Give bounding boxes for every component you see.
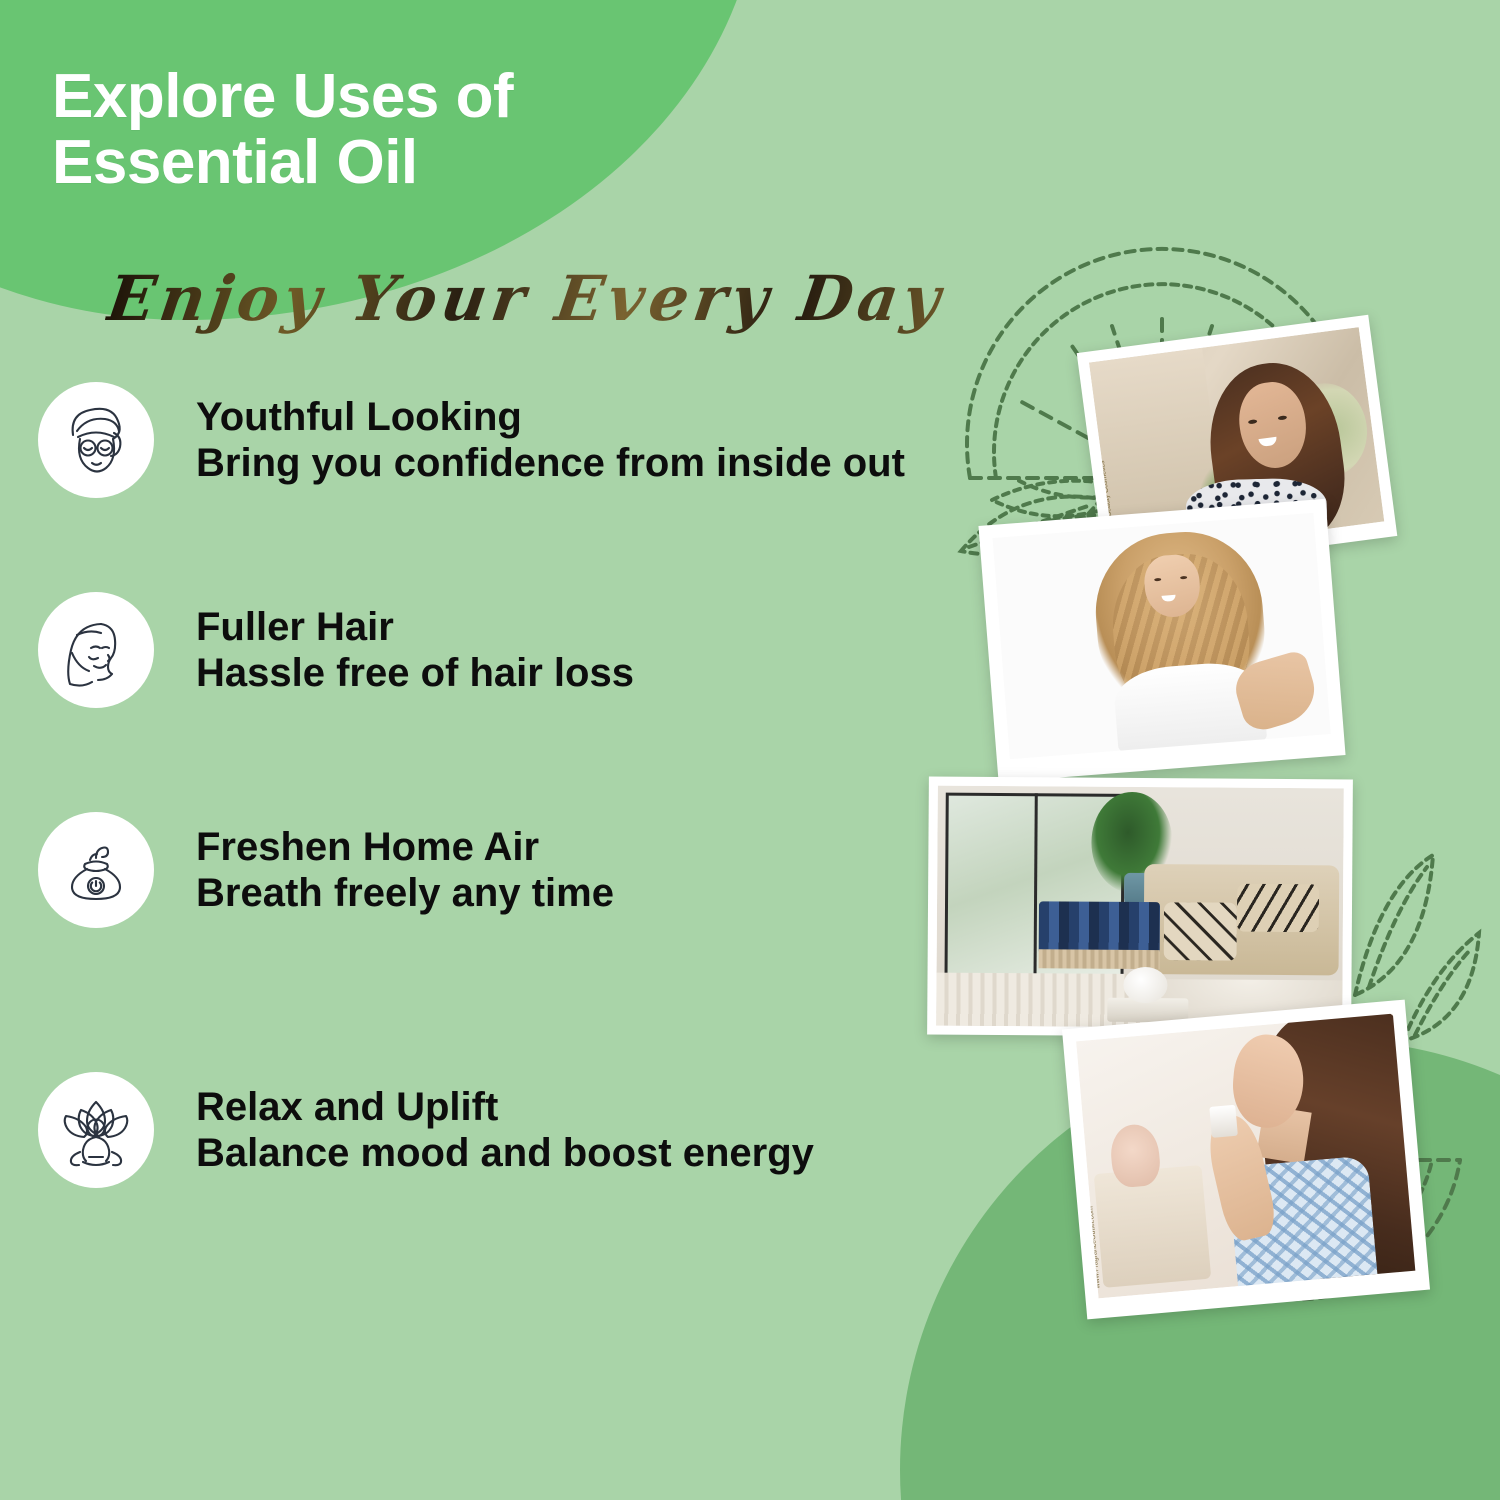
feature-item-fuller-hair: Fuller Hair Hassle free of hair loss bbox=[38, 592, 634, 708]
feature-text-block: Fuller Hair Hassle free of hair loss bbox=[196, 604, 634, 697]
photo-image bbox=[992, 513, 1330, 760]
feature-title: Freshen Home Air bbox=[196, 825, 539, 869]
face-spa-mask-icon bbox=[38, 382, 154, 498]
feature-text-block: Relax and Uplift Balance mood and boost … bbox=[196, 1084, 814, 1177]
feature-item-relax-and-uplift: Relax and Uplift Balance mood and boost … bbox=[38, 1072, 814, 1188]
feature-subtitle: Breath freely any time bbox=[196, 870, 614, 916]
feature-subtitle: Balance mood and boost energy bbox=[196, 1130, 814, 1176]
feature-subtitle: Bring you confidence from inside out bbox=[196, 440, 905, 486]
feature-subtitle: Hassle free of hair loss bbox=[196, 650, 634, 696]
lotus-meditation-icon bbox=[38, 1072, 154, 1188]
tagline: Enjoy Your Every Day bbox=[103, 262, 950, 335]
page-title: Explore Uses of Essential Oil bbox=[52, 64, 513, 198]
feature-item-freshen-home-air: Freshen Home Air Breath freely any time bbox=[38, 812, 614, 928]
feature-title: Youthful Looking bbox=[196, 395, 522, 439]
photo-woman-spraying-fragrance: www.FragranceOutlet.com bbox=[1062, 1000, 1430, 1320]
photo-image bbox=[936, 786, 1344, 1029]
photo-wavy-hair-woman bbox=[978, 499, 1345, 783]
feature-text-block: Freshen Home Air Breath freely any time bbox=[196, 824, 614, 917]
infographic-canvas: Explore Uses of Essential Oil Enjoy Your… bbox=[0, 0, 1500, 1500]
feature-text-block: Youthful Looking Bring you confidence fr… bbox=[196, 394, 905, 487]
feature-item-youthful-looking: Youthful Looking Bring you confidence fr… bbox=[38, 382, 905, 498]
page-title-line-2: Essential Oil bbox=[52, 130, 513, 197]
page-title-line-1: Explore Uses of bbox=[52, 62, 513, 131]
feature-title: Relax and Uplift bbox=[196, 1085, 498, 1129]
aroma-diffuser-icon bbox=[38, 812, 154, 928]
feature-title: Fuller Hair bbox=[196, 605, 394, 649]
photo-image: www.FragranceOutlet.com bbox=[1076, 1014, 1415, 1299]
long-hair-profile-icon bbox=[38, 592, 154, 708]
photo-boho-living-room bbox=[927, 777, 1353, 1038]
